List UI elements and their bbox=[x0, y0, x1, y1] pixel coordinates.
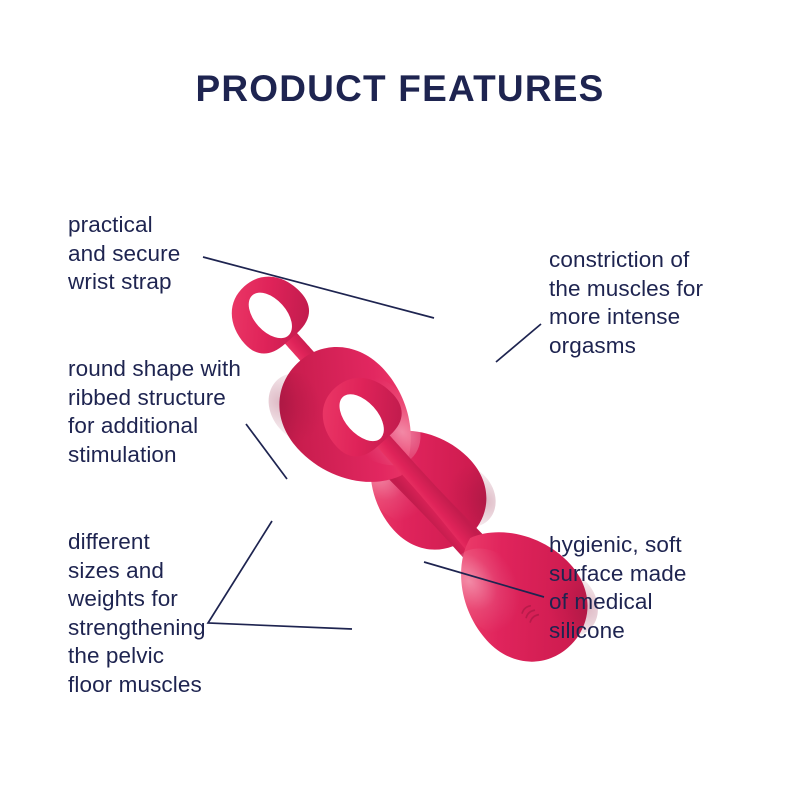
callout-wrist-strap: practical and secure wrist strap bbox=[68, 211, 180, 297]
callout-hygienic: hygienic, soft surface made of medical s… bbox=[549, 531, 687, 645]
callout-round-shape: round shape with ribbed structure for ad… bbox=[68, 355, 241, 469]
callout-sizes-weights: different sizes and weights for strength… bbox=[68, 528, 206, 699]
callout-constriction: constriction of the muscles for more int… bbox=[549, 246, 703, 360]
infographic-page: PRODUCT FEATURES bbox=[0, 0, 800, 800]
